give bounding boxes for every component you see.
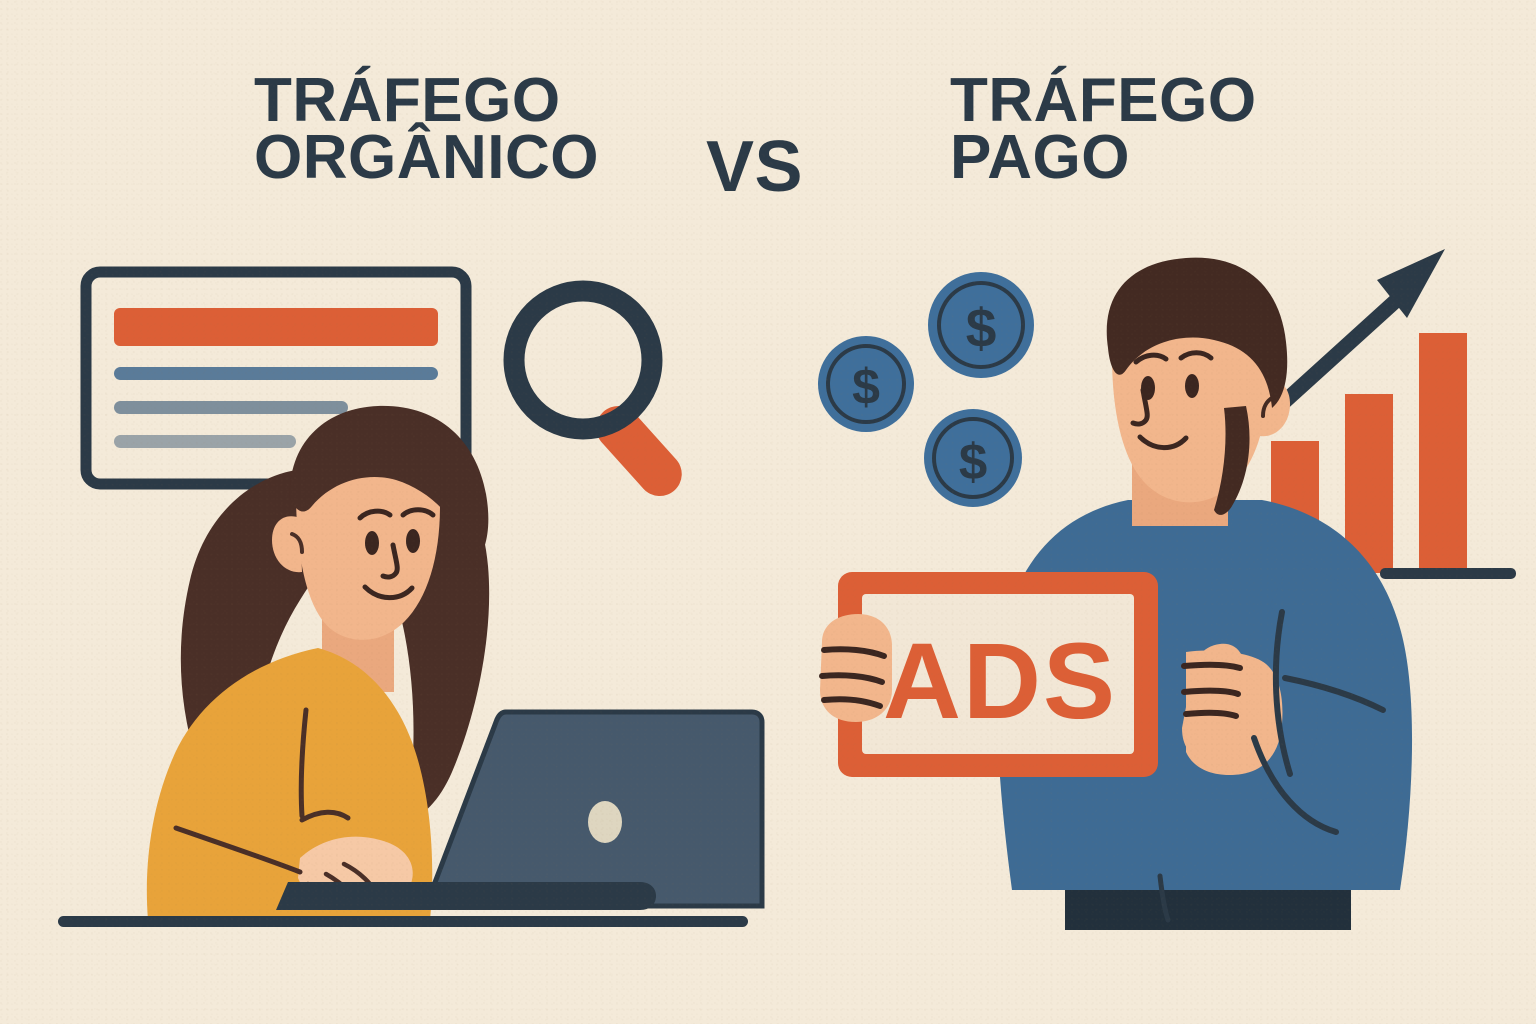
woman-eye-left [365, 531, 379, 555]
title-organic: TRÁFEGO ORGÂNICO [254, 72, 599, 186]
man-eye-right [1185, 374, 1199, 398]
man-finger-line-3 [1186, 713, 1236, 716]
result-line-2 [114, 401, 348, 414]
ads-sign-text: ADS [883, 620, 1117, 741]
man-left-hand [820, 614, 892, 722]
desk-line-left [58, 916, 748, 927]
man-finger-line-2 [1184, 691, 1238, 694]
magnifying-glass-icon [514, 291, 691, 505]
coin-bottom-symbol: $ [959, 433, 987, 490]
title-paid: TRÁFEGO PAGO [950, 72, 1257, 186]
man-pants [1065, 884, 1351, 930]
coin-top: $ [928, 272, 1034, 378]
illustration-canvas: $ $ $ [0, 0, 1536, 1024]
laptop-base [276, 882, 656, 910]
coin-left-symbol: $ [852, 359, 880, 415]
coin-left: $ [818, 336, 914, 432]
chart-arrow-shaft [1283, 286, 1412, 403]
coin-bottom: $ [924, 409, 1022, 507]
chart-baseline [1380, 568, 1516, 579]
result-line-1 [114, 367, 438, 380]
title-vs: VS [706, 134, 803, 200]
laptop-logo [588, 801, 622, 843]
magnifier-ring [514, 291, 652, 429]
highlighted-result-bar [114, 308, 438, 346]
result-line-3 [114, 435, 296, 448]
man-finger-line-1 [1184, 665, 1240, 668]
chart-bar-3 [1419, 333, 1467, 573]
woman-eye-right [406, 529, 420, 553]
coin-top-symbol: $ [966, 297, 997, 359]
